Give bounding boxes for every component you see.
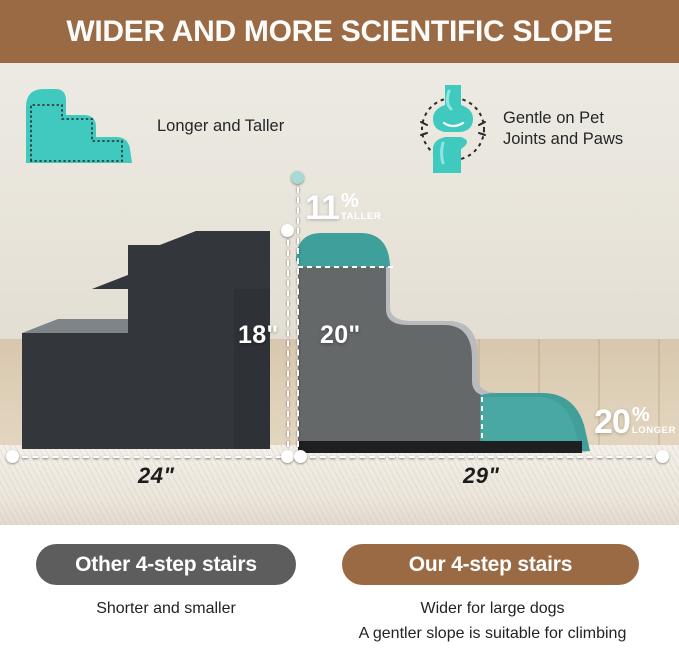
infographic-page: WIDER AND MORE SCIENTIFIC SLOPE Longer a…: [0, 0, 679, 657]
other-stairs-caption: Shorter and smaller: [36, 597, 296, 622]
other-stairs-pill: Other 4-step stairs: [36, 544, 296, 585]
stairs-icon: [22, 85, 147, 167]
our-stairs-pill: Our 4-step stairs: [342, 544, 639, 585]
feature-label: Longer and Taller: [157, 116, 284, 137]
product-scene: Longer and Taller: [0, 63, 679, 525]
feature-gentle-joints: Gentle on Pet Joints and Paws: [413, 83, 623, 175]
measure-endpoint-dot: [281, 450, 294, 463]
feature-label: Gentle on Pet Joints and Paws: [503, 108, 623, 149]
badge-longer: 20 % LONGER: [594, 405, 676, 439]
page-title: WIDER AND MORE SCIENTIFIC SLOPE: [66, 15, 612, 49]
pet-joint-icon: [413, 83, 493, 175]
measure-endpoint-dot: [6, 450, 19, 463]
badge-percent-sign: %: [632, 405, 676, 425]
other-height-label: 18": [238, 321, 279, 350]
badge-percent-sign: %: [341, 191, 381, 211]
other-width-guide: [12, 456, 292, 458]
other-width-label: 24": [138, 463, 174, 489]
our-height-label: 20": [320, 321, 361, 350]
measure-endpoint-dot: [291, 171, 304, 184]
comparison-footer: Other 4-step stairs Our 4-step stairs Sh…: [0, 525, 679, 657]
badge-number: 11: [305, 191, 339, 225]
other-height-guide: [287, 230, 289, 457]
our-width-guide: [300, 456, 662, 458]
our-stairs-caption: Wider for large dogs A gentler slope is …: [320, 597, 665, 647]
our-width-label: 29": [463, 463, 499, 489]
header-banner: WIDER AND MORE SCIENTIFIC SLOPE: [0, 0, 679, 63]
feature-longer-taller: Longer and Taller: [22, 85, 284, 167]
measure-endpoint-dot: [656, 450, 669, 463]
our-height-guide: [297, 177, 299, 457]
badge-word: TALLER: [341, 211, 381, 223]
badge-number: 20: [594, 405, 630, 439]
badge-word: LONGER: [632, 425, 676, 437]
measure-endpoint-dot: [294, 450, 307, 463]
measure-endpoint-dot: [281, 224, 294, 237]
badge-taller: 11 % TALLER: [305, 191, 381, 225]
